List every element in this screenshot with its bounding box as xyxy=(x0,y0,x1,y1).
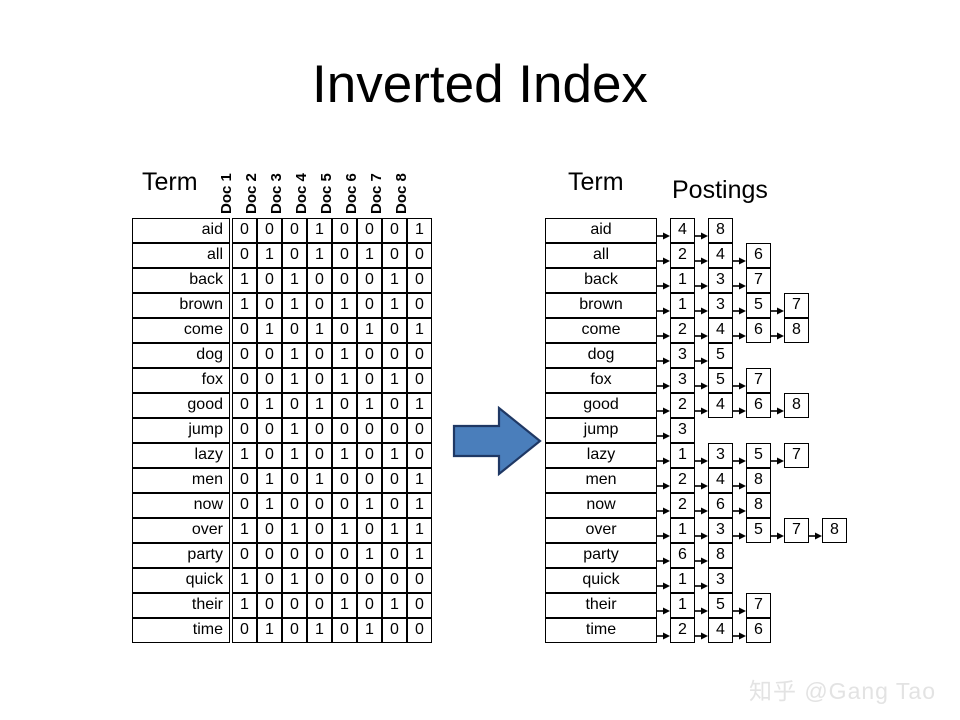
posting-doc-box: 4 xyxy=(708,468,733,493)
postings-link-arrow-icon xyxy=(657,627,670,635)
matrix-bit-cell: 1 xyxy=(357,543,382,568)
postings-link-arrow-icon xyxy=(695,552,708,560)
matrix-row: quick10100000 xyxy=(132,568,432,593)
matrix-bit-cell: 0 xyxy=(357,518,382,543)
matrix-bit-cell: 1 xyxy=(257,393,282,418)
postings-link-arrow-icon xyxy=(695,452,708,460)
matrix-bit-cell: 0 xyxy=(257,418,282,443)
matrix-term-cell: their xyxy=(132,593,230,618)
matrix-bit-cell: 0 xyxy=(282,468,307,493)
matrix-bit-cell: 0 xyxy=(257,518,282,543)
matrix-bit-cell: 0 xyxy=(407,343,432,368)
matrix-bit-cell: 0 xyxy=(382,318,407,343)
matrix-bit-cell: 0 xyxy=(357,218,382,243)
matrix-bit-cell: 0 xyxy=(307,543,332,568)
posting-doc-box: 2 xyxy=(670,318,695,343)
matrix-bit-cell: 0 xyxy=(382,393,407,418)
right-term-header: Term xyxy=(568,168,624,197)
matrix-row: back10100010 xyxy=(132,268,432,293)
left-term-header: Term xyxy=(142,168,198,197)
matrix-bit-cell: 1 xyxy=(332,293,357,318)
matrix-bit-cell: 1 xyxy=(257,493,282,518)
posting-doc-box: 3 xyxy=(708,518,733,543)
postings-link-arrow-icon xyxy=(657,252,670,260)
matrix-bit-cell: 1 xyxy=(232,593,257,618)
matrix-bit-cell: 1 xyxy=(407,493,432,518)
matrix-bit-cell: 0 xyxy=(332,218,357,243)
postings-row: good2468 xyxy=(545,393,945,418)
postings-term-cell: aid xyxy=(545,218,657,243)
posting-doc-box: 5 xyxy=(708,343,733,368)
postings-link-arrow-icon xyxy=(733,402,746,410)
matrix-bit-cell: 0 xyxy=(257,593,282,618)
matrix-term-cell: lazy xyxy=(132,443,230,468)
posting-doc-box: 5 xyxy=(746,443,771,468)
matrix-bit-cell: 1 xyxy=(257,468,282,493)
postings-row: dog35 xyxy=(545,343,945,368)
matrix-bit-cell: 0 xyxy=(307,418,332,443)
postings-link-arrow-icon xyxy=(733,327,746,335)
postings-term-cell: now xyxy=(545,493,657,518)
postings-row: over13578 xyxy=(545,518,945,543)
matrix-term-cell: good xyxy=(132,393,230,418)
posting-doc-box: 4 xyxy=(708,318,733,343)
matrix-bit-cell: 1 xyxy=(357,393,382,418)
matrix-row: good01010101 xyxy=(132,393,432,418)
matrix-bit-cell: 0 xyxy=(282,493,307,518)
matrix-bit-cell: 0 xyxy=(307,443,332,468)
postings-link-arrow-icon xyxy=(657,377,670,385)
matrix-row: fox00101010 xyxy=(132,368,432,393)
matrix-row: brown10101010 xyxy=(132,293,432,318)
posting-doc-box: 8 xyxy=(746,493,771,518)
postings-link-arrow-icon xyxy=(657,502,670,510)
matrix-bit-cell: 1 xyxy=(282,368,307,393)
postings-row: time246 xyxy=(545,618,945,643)
matrix-bit-cell: 1 xyxy=(232,518,257,543)
matrix-bit-cell: 0 xyxy=(357,293,382,318)
posting-doc-box: 8 xyxy=(784,318,809,343)
matrix-bit-cell: 0 xyxy=(382,418,407,443)
postings-link-arrow-icon xyxy=(695,302,708,310)
matrix-bit-cell: 1 xyxy=(282,443,307,468)
postings-link-arrow-icon xyxy=(771,527,784,535)
posting-doc-box: 7 xyxy=(746,268,771,293)
posting-doc-box: 5 xyxy=(746,293,771,318)
postings-link-arrow-icon xyxy=(809,527,822,535)
matrix-bit-cell: 1 xyxy=(307,318,332,343)
posting-doc-box: 7 xyxy=(784,518,809,543)
posting-doc-box: 7 xyxy=(784,293,809,318)
postings-header: Postings xyxy=(672,176,768,205)
postings-link-arrow-icon xyxy=(657,327,670,335)
matrix-bit-cell: 0 xyxy=(307,518,332,543)
matrix-term-cell: jump xyxy=(132,418,230,443)
posting-doc-box: 2 xyxy=(670,618,695,643)
postings-term-cell: party xyxy=(545,543,657,568)
posting-doc-box: 8 xyxy=(708,218,733,243)
matrix-bit-cell: 0 xyxy=(282,593,307,618)
posting-doc-box: 2 xyxy=(670,493,695,518)
posting-doc-box: 3 xyxy=(670,368,695,393)
matrix-bit-cell: 0 xyxy=(332,493,357,518)
matrix-row: all01010100 xyxy=(132,243,432,268)
postings-term-cell: come xyxy=(545,318,657,343)
matrix-bit-cell: 0 xyxy=(257,443,282,468)
posting-doc-box: 1 xyxy=(670,593,695,618)
matrix-term-cell: come xyxy=(132,318,230,343)
matrix-row: their10001010 xyxy=(132,593,432,618)
matrix-bit-cell: 0 xyxy=(357,593,382,618)
matrix-bit-cell: 1 xyxy=(407,393,432,418)
matrix-term-cell: quick xyxy=(132,568,230,593)
posting-doc-box: 8 xyxy=(746,468,771,493)
postings-row: men248 xyxy=(545,468,945,493)
matrix-term-cell: aid xyxy=(132,218,230,243)
doc-column-header: Doc 6 xyxy=(343,154,361,214)
posting-doc-box: 1 xyxy=(670,518,695,543)
posting-doc-box: 5 xyxy=(708,368,733,393)
matrix-bit-cell: 0 xyxy=(332,618,357,643)
postings-link-arrow-icon xyxy=(771,402,784,410)
postings-link-arrow-icon xyxy=(771,302,784,310)
matrix-term-cell: men xyxy=(132,468,230,493)
matrix-bit-cell: 1 xyxy=(257,318,282,343)
matrix-bit-cell: 1 xyxy=(257,618,282,643)
posting-doc-box: 7 xyxy=(784,443,809,468)
matrix-bit-cell: 0 xyxy=(332,543,357,568)
postings-row: their157 xyxy=(545,593,945,618)
matrix-bit-cell: 0 xyxy=(382,468,407,493)
postings-link-arrow-icon xyxy=(733,277,746,285)
matrix-row: over10101011 xyxy=(132,518,432,543)
postings-term-cell: fox xyxy=(545,368,657,393)
matrix-bit-cell: 0 xyxy=(407,568,432,593)
matrix-bit-cell: 1 xyxy=(332,443,357,468)
posting-doc-box: 4 xyxy=(708,243,733,268)
postings-link-arrow-icon xyxy=(657,477,670,485)
matrix-bit-cell: 1 xyxy=(232,268,257,293)
matrix-bit-cell: 0 xyxy=(232,393,257,418)
matrix-bit-cell: 1 xyxy=(307,393,332,418)
postings-link-arrow-icon xyxy=(695,227,708,235)
posting-doc-box: 8 xyxy=(708,543,733,568)
posting-doc-box: 3 xyxy=(708,293,733,318)
posting-doc-box: 8 xyxy=(784,393,809,418)
term-document-matrix: aid00010001all01010100back10100010brown1… xyxy=(132,218,432,643)
postings-term-cell: quick xyxy=(545,568,657,593)
posting-doc-box: 6 xyxy=(746,393,771,418)
matrix-bit-cell: 0 xyxy=(357,268,382,293)
postings-link-arrow-icon xyxy=(695,477,708,485)
posting-doc-box: 1 xyxy=(670,568,695,593)
postings-link-arrow-icon xyxy=(657,577,670,585)
matrix-bit-cell: 0 xyxy=(282,318,307,343)
postings-lists: aid48all246back137brown1357come2468dog35… xyxy=(545,218,945,643)
matrix-term-cell: all xyxy=(132,243,230,268)
postings-term-cell: brown xyxy=(545,293,657,318)
matrix-bit-cell: 1 xyxy=(382,593,407,618)
matrix-row: lazy10101010 xyxy=(132,443,432,468)
matrix-term-cell: now xyxy=(132,493,230,518)
postings-row: all246 xyxy=(545,243,945,268)
postings-link-arrow-icon xyxy=(695,502,708,510)
doc-column-header: Doc 7 xyxy=(368,154,386,214)
postings-link-arrow-icon xyxy=(657,602,670,610)
postings-link-arrow-icon xyxy=(695,402,708,410)
matrix-bit-cell: 0 xyxy=(332,568,357,593)
matrix-bit-cell: 0 xyxy=(407,443,432,468)
posting-doc-box: 6 xyxy=(708,493,733,518)
matrix-bit-cell: 1 xyxy=(357,618,382,643)
matrix-bit-cell: 0 xyxy=(357,418,382,443)
matrix-bit-cell: 0 xyxy=(232,368,257,393)
postings-link-arrow-icon xyxy=(695,327,708,335)
postings-link-arrow-icon xyxy=(695,527,708,535)
matrix-bit-cell: 0 xyxy=(357,343,382,368)
postings-link-arrow-icon xyxy=(657,302,670,310)
postings-link-arrow-icon xyxy=(733,627,746,635)
posting-doc-box: 4 xyxy=(708,618,733,643)
matrix-bit-cell: 0 xyxy=(407,268,432,293)
matrix-bit-cell: 0 xyxy=(282,243,307,268)
matrix-bit-cell: 0 xyxy=(307,343,332,368)
matrix-bit-cell: 0 xyxy=(382,543,407,568)
matrix-bit-cell: 0 xyxy=(232,493,257,518)
watermark: 知乎 @Gang Tao xyxy=(749,672,936,706)
matrix-term-cell: time xyxy=(132,618,230,643)
matrix-bit-cell: 0 xyxy=(332,468,357,493)
matrix-bit-cell: 0 xyxy=(407,293,432,318)
matrix-bit-cell: 0 xyxy=(232,343,257,368)
matrix-bit-cell: 0 xyxy=(307,293,332,318)
doc-column-header: Doc 3 xyxy=(268,154,286,214)
posting-doc-box: 1 xyxy=(670,268,695,293)
posting-doc-box: 7 xyxy=(746,368,771,393)
matrix-bit-cell: 1 xyxy=(382,443,407,468)
postings-link-arrow-icon xyxy=(695,277,708,285)
matrix-bit-cell: 1 xyxy=(282,343,307,368)
matrix-bit-cell: 0 xyxy=(307,593,332,618)
matrix-bit-cell: 0 xyxy=(332,393,357,418)
postings-link-arrow-icon xyxy=(771,452,784,460)
matrix-bit-cell: 0 xyxy=(232,468,257,493)
matrix-bit-cell: 0 xyxy=(357,443,382,468)
matrix-row: aid00010001 xyxy=(132,218,432,243)
matrix-bit-cell: 0 xyxy=(232,618,257,643)
posting-doc-box: 7 xyxy=(746,593,771,618)
matrix-bit-cell: 0 xyxy=(382,343,407,368)
matrix-bit-cell: 1 xyxy=(307,218,332,243)
matrix-bit-cell: 0 xyxy=(332,318,357,343)
matrix-row: dog00101000 xyxy=(132,343,432,368)
posting-doc-box: 5 xyxy=(708,593,733,618)
transform-arrow-icon xyxy=(452,404,542,478)
matrix-bit-cell: 0 xyxy=(382,218,407,243)
matrix-bit-cell: 1 xyxy=(407,318,432,343)
matrix-bit-cell: 1 xyxy=(282,418,307,443)
posting-doc-box: 1 xyxy=(670,293,695,318)
doc-column-header: Doc 5 xyxy=(318,154,336,214)
matrix-bit-cell: 1 xyxy=(382,268,407,293)
matrix-bit-cell: 1 xyxy=(382,518,407,543)
matrix-bit-cell: 0 xyxy=(382,243,407,268)
matrix-bit-cell: 0 xyxy=(282,618,307,643)
postings-link-arrow-icon xyxy=(657,227,670,235)
matrix-bit-cell: 1 xyxy=(332,593,357,618)
matrix-bit-cell: 1 xyxy=(407,518,432,543)
matrix-bit-cell: 1 xyxy=(307,618,332,643)
matrix-bit-cell: 0 xyxy=(282,218,307,243)
matrix-bit-cell: 0 xyxy=(332,243,357,268)
doc-column-header: Doc 2 xyxy=(243,154,261,214)
postings-link-arrow-icon xyxy=(695,627,708,635)
matrix-bit-cell: 0 xyxy=(382,493,407,518)
matrix-bit-cell: 0 xyxy=(407,368,432,393)
matrix-bit-cell: 0 xyxy=(282,543,307,568)
matrix-bit-cell: 0 xyxy=(332,268,357,293)
postings-link-arrow-icon xyxy=(657,352,670,360)
matrix-term-cell: fox xyxy=(132,368,230,393)
matrix-bit-cell: 1 xyxy=(382,368,407,393)
matrix-term-cell: over xyxy=(132,518,230,543)
postings-link-arrow-icon xyxy=(733,477,746,485)
postings-row: back137 xyxy=(545,268,945,293)
matrix-row: now01000101 xyxy=(132,493,432,518)
matrix-bit-cell: 0 xyxy=(232,243,257,268)
matrix-bit-cell: 0 xyxy=(282,393,307,418)
matrix-bit-cell: 0 xyxy=(332,418,357,443)
postings-row: jump3 xyxy=(545,418,945,443)
matrix-term-cell: back xyxy=(132,268,230,293)
postings-term-cell: jump xyxy=(545,418,657,443)
postings-link-arrow-icon xyxy=(657,527,670,535)
matrix-bit-cell: 0 xyxy=(357,568,382,593)
matrix-bit-cell: 0 xyxy=(382,568,407,593)
postings-link-arrow-icon xyxy=(695,602,708,610)
posting-doc-box: 6 xyxy=(746,618,771,643)
posting-doc-box: 3 xyxy=(708,568,733,593)
matrix-bit-cell: 0 xyxy=(257,543,282,568)
matrix-bit-cell: 1 xyxy=(232,293,257,318)
postings-term-cell: over xyxy=(545,518,657,543)
matrix-bit-cell: 1 xyxy=(357,493,382,518)
postings-link-arrow-icon xyxy=(733,502,746,510)
matrix-bit-cell: 1 xyxy=(407,543,432,568)
postings-link-arrow-icon xyxy=(695,252,708,260)
postings-term-cell: back xyxy=(545,268,657,293)
matrix-bit-cell: 1 xyxy=(307,243,332,268)
postings-link-arrow-icon xyxy=(695,577,708,585)
matrix-bit-cell: 0 xyxy=(232,218,257,243)
postings-link-arrow-icon xyxy=(695,377,708,385)
matrix-bit-cell: 1 xyxy=(257,243,282,268)
matrix-row: jump00100000 xyxy=(132,418,432,443)
postings-link-arrow-icon xyxy=(657,452,670,460)
matrix-bit-cell: 0 xyxy=(232,418,257,443)
postings-row: quick13 xyxy=(545,568,945,593)
matrix-bit-cell: 1 xyxy=(357,243,382,268)
posting-doc-box: 8 xyxy=(822,518,847,543)
matrix-row: come01010101 xyxy=(132,318,432,343)
posting-doc-box: 3 xyxy=(708,443,733,468)
postings-row: fox357 xyxy=(545,368,945,393)
matrix-bit-cell: 1 xyxy=(282,268,307,293)
matrix-bit-cell: 0 xyxy=(257,218,282,243)
postings-row: lazy1357 xyxy=(545,443,945,468)
doc-column-headers: Doc 1Doc 2Doc 3Doc 4Doc 5Doc 6Doc 7Doc 8 xyxy=(232,152,432,214)
matrix-bit-cell: 1 xyxy=(282,293,307,318)
matrix-bit-cell: 1 xyxy=(407,468,432,493)
matrix-bit-cell: 0 xyxy=(257,293,282,318)
postings-link-arrow-icon xyxy=(733,252,746,260)
postings-row: now268 xyxy=(545,493,945,518)
postings-link-arrow-icon xyxy=(657,552,670,560)
matrix-bit-cell: 0 xyxy=(307,268,332,293)
matrix-bit-cell: 0 xyxy=(232,543,257,568)
matrix-bit-cell: 0 xyxy=(307,368,332,393)
posting-doc-box: 2 xyxy=(670,393,695,418)
postings-row: aid48 xyxy=(545,218,945,243)
posting-doc-box: 6 xyxy=(670,543,695,568)
postings-term-cell: dog xyxy=(545,343,657,368)
postings-link-arrow-icon xyxy=(657,427,670,435)
postings-link-arrow-icon xyxy=(733,602,746,610)
matrix-term-cell: brown xyxy=(132,293,230,318)
posting-doc-box: 4 xyxy=(708,393,733,418)
posting-doc-box: 3 xyxy=(670,343,695,368)
postings-link-arrow-icon xyxy=(733,452,746,460)
postings-link-arrow-icon xyxy=(771,327,784,335)
posting-doc-box: 6 xyxy=(746,318,771,343)
matrix-bit-cell: 1 xyxy=(357,318,382,343)
matrix-term-cell: dog xyxy=(132,343,230,368)
matrix-bit-cell: 1 xyxy=(332,343,357,368)
matrix-bit-cell: 1 xyxy=(407,218,432,243)
matrix-row: party00000101 xyxy=(132,543,432,568)
doc-column-header: Doc 8 xyxy=(393,154,411,214)
matrix-bit-cell: 0 xyxy=(307,493,332,518)
matrix-bit-cell: 0 xyxy=(257,568,282,593)
matrix-bit-cell: 0 xyxy=(407,618,432,643)
postings-term-cell: all xyxy=(545,243,657,268)
slide-canvas: Inverted Index Term Doc 1Doc 2Doc 3Doc 4… xyxy=(0,0,960,720)
postings-link-arrow-icon xyxy=(733,302,746,310)
matrix-row: men01010001 xyxy=(132,468,432,493)
postings-term-cell: their xyxy=(545,593,657,618)
postings-link-arrow-icon xyxy=(733,527,746,535)
matrix-bit-cell: 1 xyxy=(332,518,357,543)
posting-doc-box: 3 xyxy=(708,268,733,293)
postings-row: party68 xyxy=(545,543,945,568)
posting-doc-box: 6 xyxy=(746,243,771,268)
matrix-bit-cell: 0 xyxy=(357,368,382,393)
matrix-bit-cell: 1 xyxy=(382,293,407,318)
matrix-bit-cell: 0 xyxy=(407,593,432,618)
matrix-bit-cell: 1 xyxy=(332,368,357,393)
posting-doc-box: 1 xyxy=(670,443,695,468)
postings-link-arrow-icon xyxy=(695,352,708,360)
matrix-bit-cell: 0 xyxy=(407,418,432,443)
postings-row: come2468 xyxy=(545,318,945,343)
postings-link-arrow-icon xyxy=(657,402,670,410)
matrix-bit-cell: 0 xyxy=(307,568,332,593)
matrix-bit-cell: 1 xyxy=(307,468,332,493)
matrix-bit-cell: 0 xyxy=(232,318,257,343)
matrix-bit-cell: 1 xyxy=(232,568,257,593)
matrix-term-cell: party xyxy=(132,543,230,568)
postings-row: brown1357 xyxy=(545,293,945,318)
